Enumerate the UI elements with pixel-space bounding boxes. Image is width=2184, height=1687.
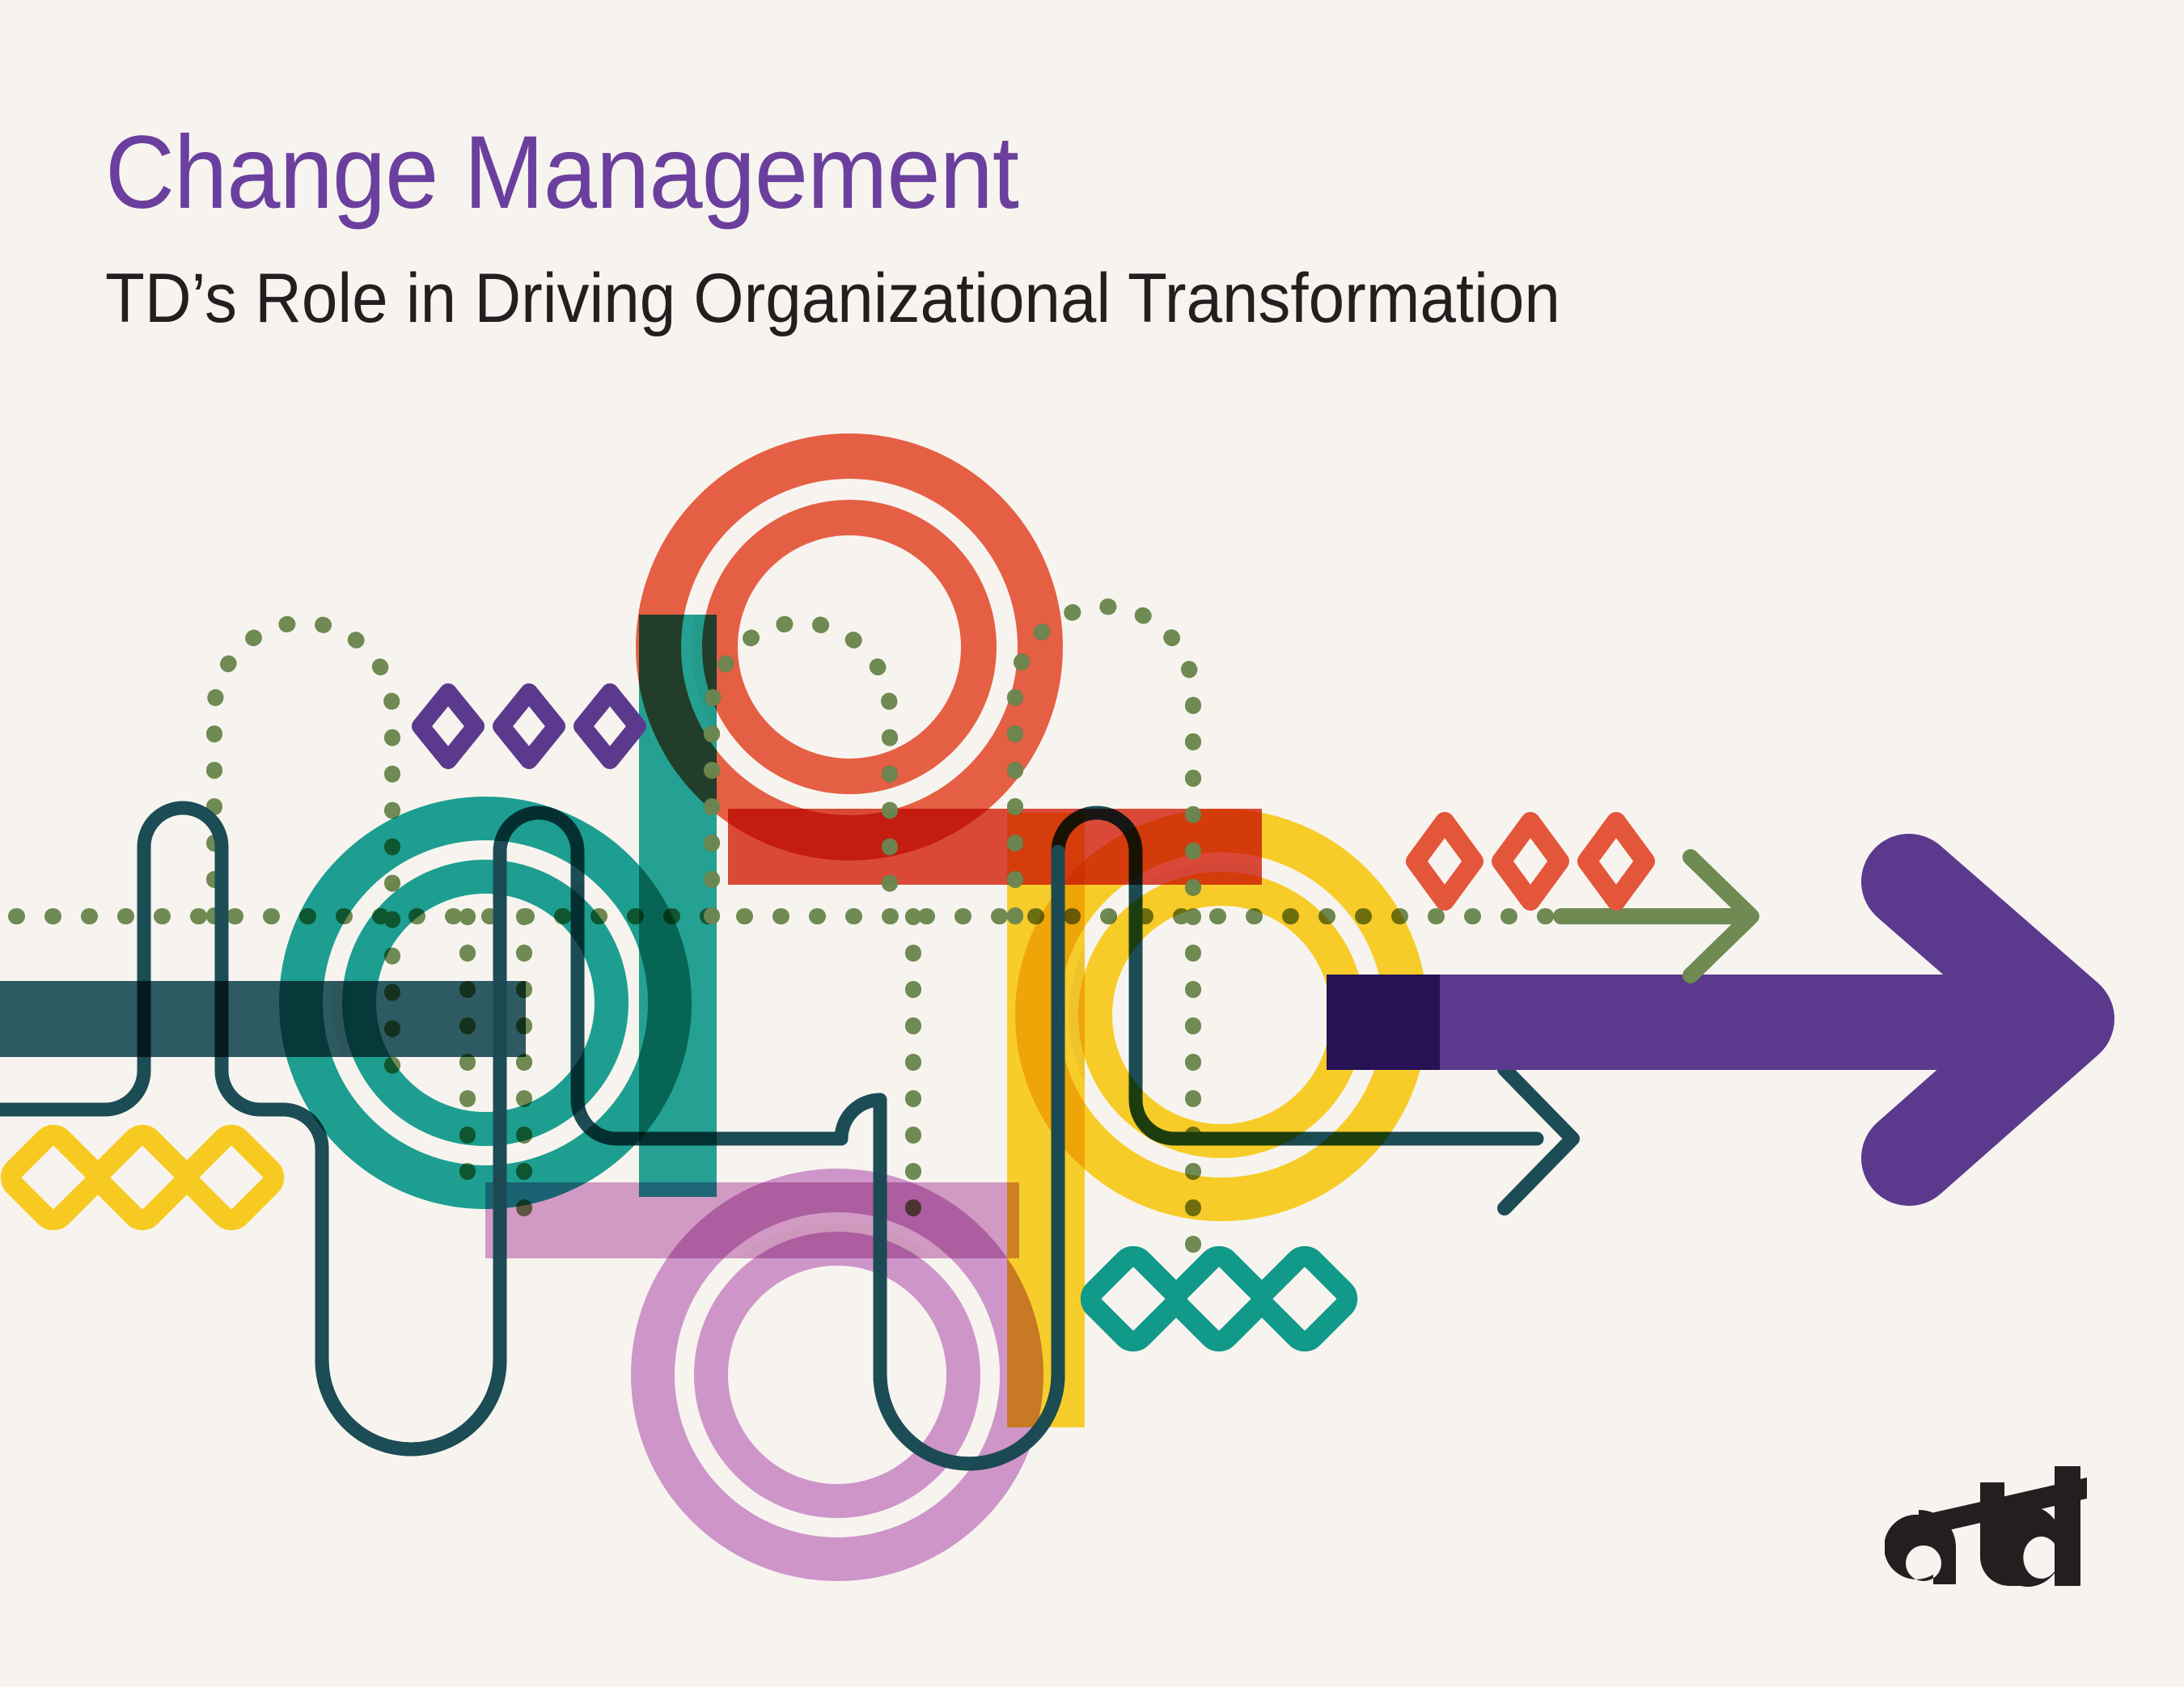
title-block: Change Management TD’s Role in Driving O… (105, 121, 1966, 333)
yellow-diamond-2 (95, 1131, 189, 1224)
dark-teal-bar (0, 981, 526, 1057)
red-diamond-1 (1416, 822, 1474, 901)
teal-diamonds (1086, 1252, 1352, 1346)
purple-diamond-3 (582, 692, 637, 760)
page-subtitle: TD’s Role in Driving Organizational Tran… (105, 264, 1835, 333)
yellow-diamonds (6, 1131, 278, 1224)
red-diamond-3 (1587, 822, 1645, 901)
teal-diamond-3 (1258, 1252, 1352, 1346)
teal-diamond-1 (1086, 1252, 1180, 1346)
poster-canvas: Change Management TD’s Role in Driving O… (0, 0, 2184, 1687)
purple-diamond-1 (421, 692, 476, 760)
pink-ring (653, 1190, 1022, 1559)
teal-diamond-2 (1172, 1252, 1266, 1346)
purple-yellow-overlap (1327, 975, 1440, 1070)
purple-diamond-2 (502, 692, 557, 760)
stroke-path-left-hairpin (0, 808, 283, 1110)
purple-diamonds (421, 692, 637, 760)
atd-logo (1885, 1460, 2103, 1605)
red-ring (658, 456, 1040, 838)
red-diamond-2 (1501, 822, 1560, 901)
yellow-diamond-1 (6, 1131, 100, 1224)
red-diamonds (1416, 822, 1645, 901)
atd-logo-mark (1885, 1460, 2103, 1605)
page-title: Change Management (105, 121, 1835, 225)
yellow-diamond-3 (184, 1131, 278, 1224)
